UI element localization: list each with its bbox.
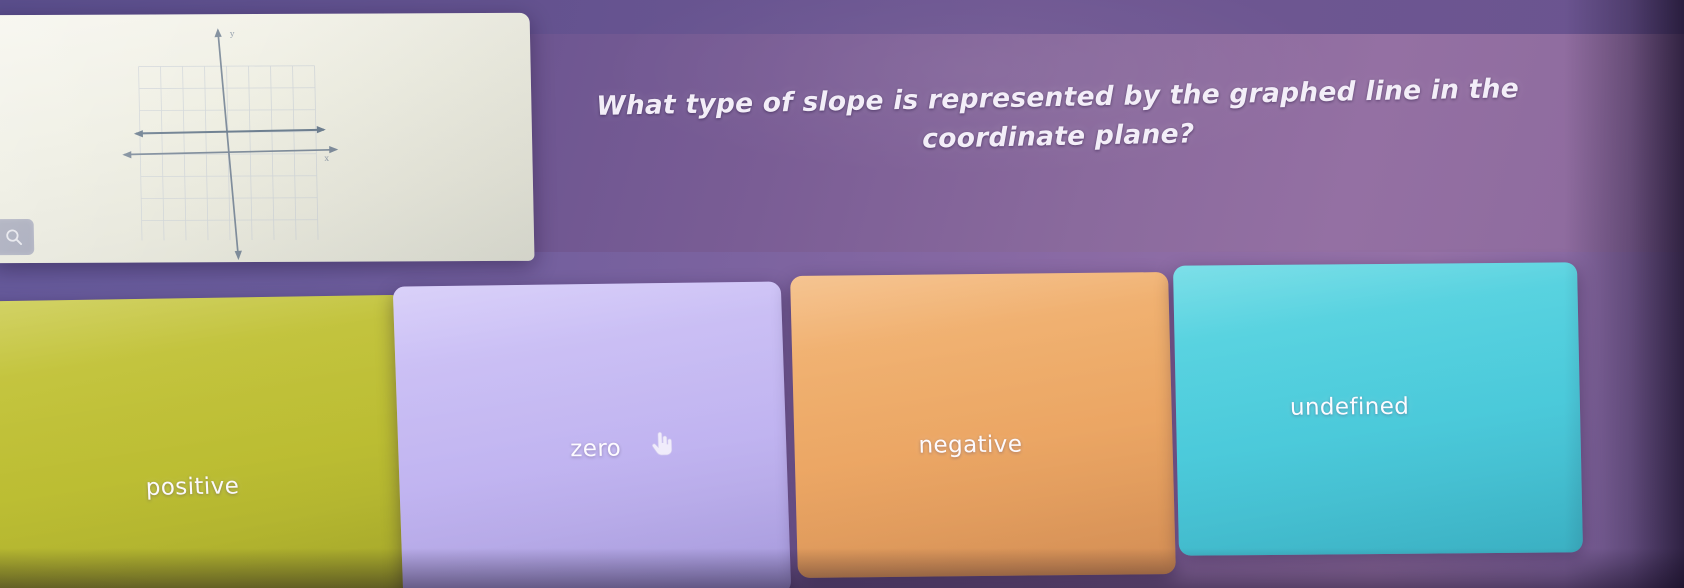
card-sheen	[0, 295, 417, 588]
y-axis-label: y	[229, 29, 235, 38]
y-axis	[214, 28, 242, 260]
answer-option-positive[interactable]: positive	[0, 295, 417, 588]
x-axis	[122, 146, 338, 158]
answer-label: zero	[570, 436, 622, 463]
x-axis-label: x	[324, 154, 329, 163]
coordinate-plane-graph: y x	[98, 20, 363, 263]
answer-option-zero[interactable]: zero	[393, 282, 792, 588]
quiz-screen: y x What type of slope is represented by…	[0, 0, 1684, 588]
answer-options-row: positive zero negative undefined	[0, 250, 1684, 588]
answer-label: undefined	[1290, 394, 1410, 421]
answer-label: negative	[918, 432, 1022, 459]
graph-card: y x	[0, 13, 535, 263]
answer-label: positive	[145, 473, 240, 500]
answer-option-undefined[interactable]: undefined	[1173, 262, 1583, 555]
answer-option-negative[interactable]: negative	[790, 272, 1176, 578]
card-sheen	[790, 272, 1176, 578]
card-sheen	[393, 282, 792, 588]
hand-pointer-icon	[650, 431, 673, 461]
